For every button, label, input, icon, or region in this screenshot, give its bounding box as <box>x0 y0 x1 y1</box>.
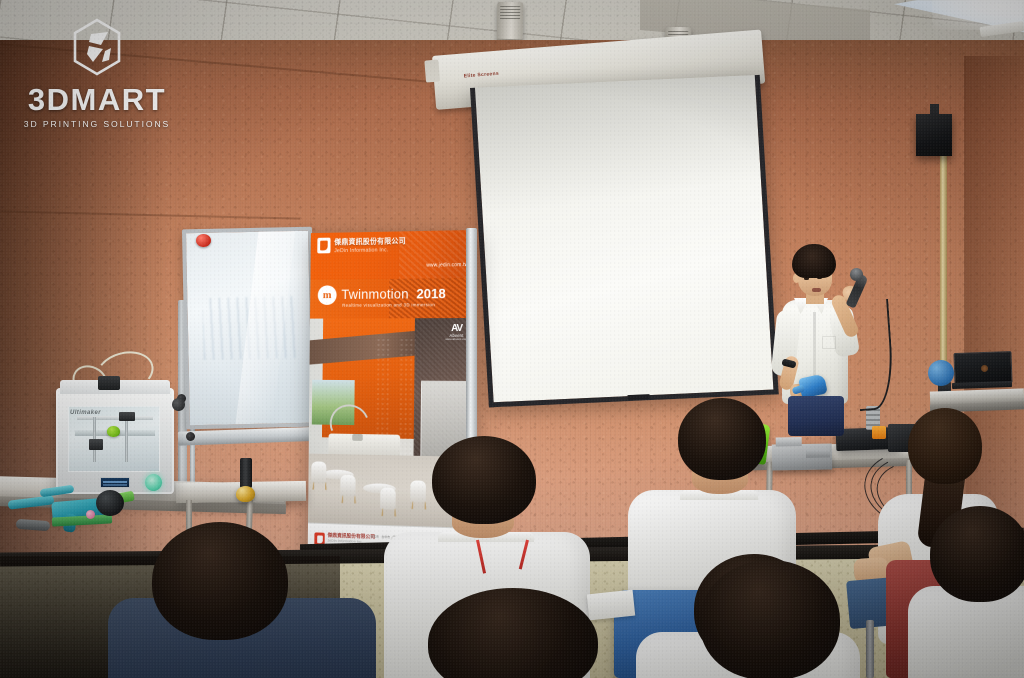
banner-company-en: JeDin Information Inc. <box>334 247 406 254</box>
printed-model <box>96 490 124 516</box>
audience-head <box>908 408 982 484</box>
banner-product-strip: m Twinmotion 2018 Realtime visualization… <box>310 278 476 319</box>
printed-green-part <box>107 426 120 437</box>
audience-head <box>700 560 840 678</box>
render-chair <box>380 488 396 510</box>
audience-head <box>930 506 1024 602</box>
banner-product-name: Twinmotion <box>341 288 408 302</box>
printer-carriage <box>89 439 103 450</box>
printer-z-rod <box>125 417 128 462</box>
twinmotion-circle-icon: m <box>318 285 337 305</box>
printer-carriage <box>119 412 135 421</box>
laptop-icon[interactable] <box>953 351 1012 385</box>
whiteboard-magnet <box>196 234 211 247</box>
banner-company-cn: 傑鼎資訊股份有限公司 <box>334 236 406 247</box>
presenter-hair <box>792 244 836 278</box>
3d-printer-icon: Ultimaker <box>56 388 174 494</box>
audience-head <box>152 522 288 640</box>
watermark: 3DMART 3D PRINTING SOLUTIONS <box>14 18 180 129</box>
housing-bracket <box>424 60 440 83</box>
watermark-tagline: 3D PRINTING SOLUTIONS <box>14 119 180 129</box>
blue-sphere-object <box>928 360 954 386</box>
presenter-shirt-pocket <box>822 336 836 349</box>
chair-frame <box>866 620 874 678</box>
projection-screen-icon <box>470 75 779 408</box>
audience-head <box>432 436 536 524</box>
banner-product-year: 2018 <box>416 288 446 302</box>
hexagon-3d-logo-icon <box>71 18 123 76</box>
seminar-photo: Elite Screens 傑鼎資訊股份有限公司 JeDin Informati… <box>0 0 1024 678</box>
banner-company-block: 傑鼎資訊股份有限公司 JeDin Information Inc. <box>317 236 406 254</box>
whiteboard-lock-knob[interactable] <box>186 432 195 441</box>
banner-product-tagline: Realtime visualization and 3D immersion <box>342 302 435 307</box>
banner-website: www.jedin.com.tw <box>426 262 468 269</box>
list-item <box>920 506 1024 678</box>
whiteboard-icon <box>182 227 316 430</box>
printed-gold-skull <box>236 486 255 502</box>
printer-control-dial[interactable] <box>145 474 162 491</box>
abvent-url: www.abvent.com <box>445 338 467 341</box>
list-item <box>700 560 860 678</box>
printer-gantry <box>77 416 153 420</box>
printer-print-head <box>98 376 120 390</box>
list-item <box>428 588 618 678</box>
audience-head <box>678 398 766 480</box>
jedin-logo-icon <box>317 238 330 254</box>
printed-model <box>86 510 95 519</box>
printer-side-knob[interactable] <box>172 398 185 411</box>
printer-display[interactable] <box>100 477 130 488</box>
printer-brand-label: Ultimaker <box>70 410 101 416</box>
render-lamp-head <box>353 434 364 441</box>
watermark-brand: 3DMART <box>14 84 180 115</box>
ceiling-sensor-icon <box>497 2 524 44</box>
audience-head <box>428 588 598 678</box>
render-chair <box>341 474 356 496</box>
display-stand <box>240 458 252 488</box>
banner-header: 傑鼎資訊股份有限公司 JeDin Information Inc. www.je… <box>310 230 476 280</box>
abvent-logo-block: AV Abvent www.abvent.com <box>445 324 468 341</box>
housing-brand-label: Elite Screens <box>464 71 500 80</box>
render-chair <box>312 461 327 483</box>
list-item <box>142 522 352 678</box>
presenter-mouth <box>812 288 821 292</box>
screen-shading <box>475 75 773 402</box>
wall-speaker-icon <box>916 114 952 156</box>
